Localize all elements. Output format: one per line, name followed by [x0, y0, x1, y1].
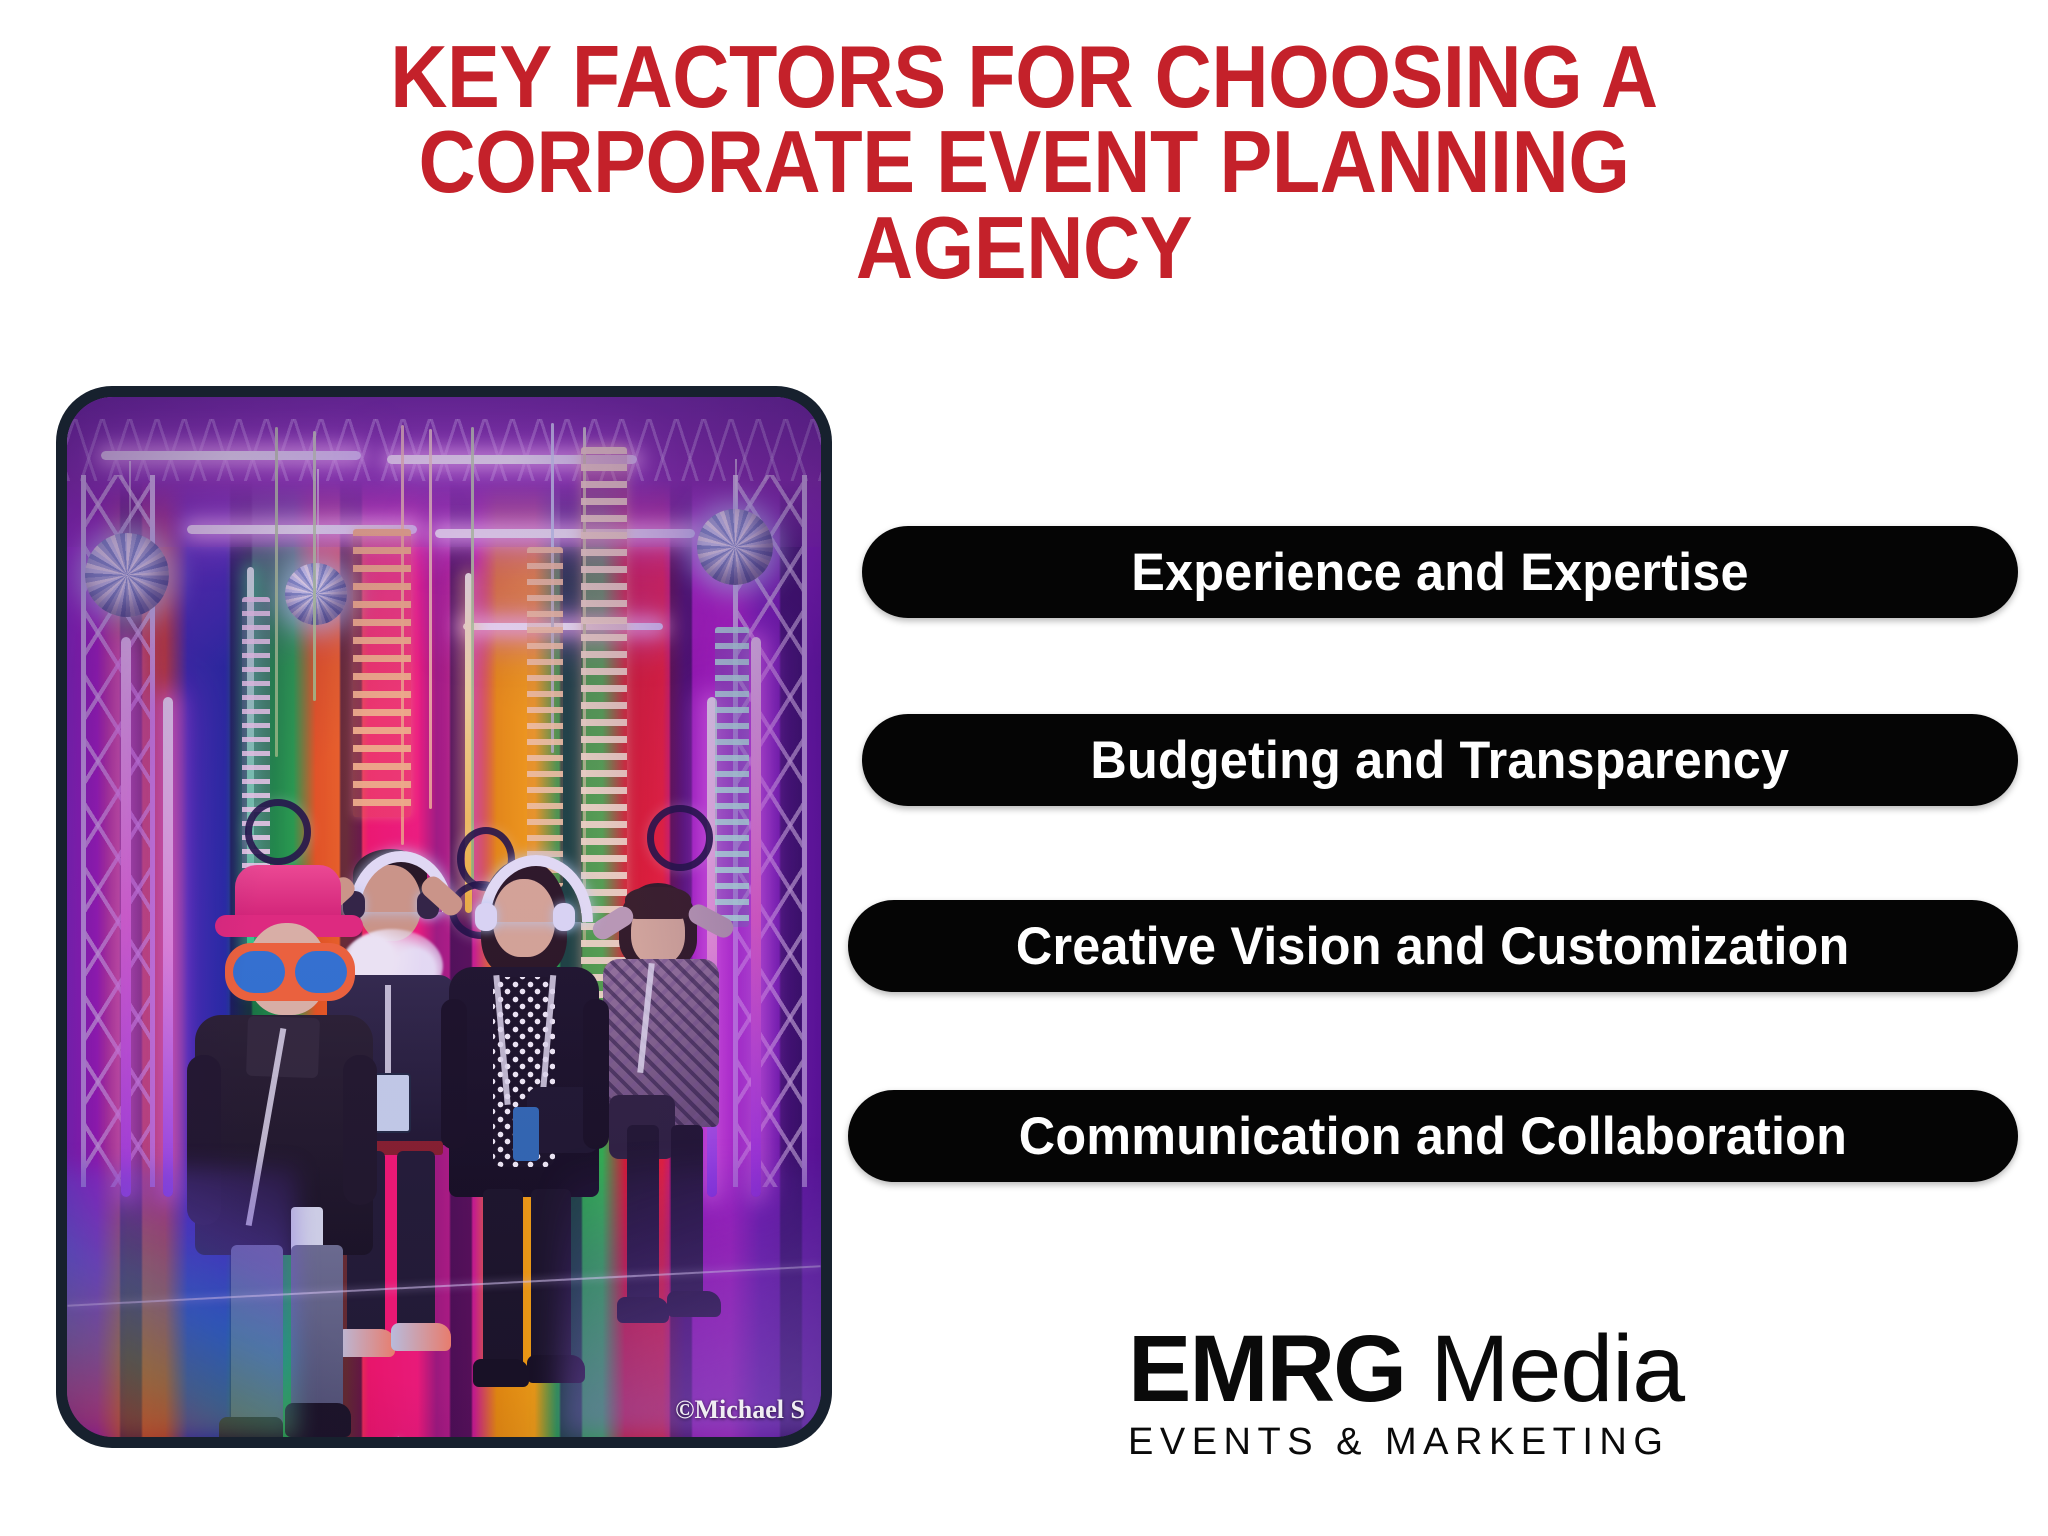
disco-ball-string [317, 469, 319, 565]
disco-ball-icon [285, 563, 347, 625]
factor-pill-label: Experience and Expertise [1131, 542, 1748, 603]
headphone-ring-icon [647, 805, 713, 871]
factor-pill-budgeting-and-transparency[interactable]: Budgeting and Transparency [862, 714, 2018, 806]
event-photo-card: ©Michael S [56, 386, 832, 1448]
headphone-cup-left [475, 903, 497, 931]
page-title-line-2: CORPORATE EVENT PLANNING [156, 119, 1891, 204]
disco-ball-string [129, 461, 131, 535]
leg-left [483, 1189, 523, 1369]
disco-ball-string [735, 459, 737, 515]
headphone-ring-icon [245, 799, 311, 865]
spiral-streamer-icon [527, 547, 563, 887]
leg-right [291, 1245, 343, 1415]
phone [513, 1107, 539, 1161]
page-title-line-1: KEY FACTORS FOR CHOOSING A [156, 34, 1891, 119]
factor-pill-experience-and-expertise[interactable]: Experience and Expertise [862, 526, 2018, 618]
bangs [625, 887, 691, 919]
logo-tagline: EVENTS & MARKETING [1128, 1421, 1688, 1464]
neon-tube-icon [101, 451, 361, 460]
hanging-ribbon [275, 427, 278, 757]
factor-pill-communication-and-collaboration[interactable]: Communication and Collaboration [848, 1090, 2018, 1182]
neon-tube-icon [751, 637, 761, 1197]
hanging-ribbon [471, 427, 474, 887]
neon-tube-icon [463, 623, 663, 630]
neon-tube-icon [121, 637, 131, 1197]
leg-right [397, 1151, 435, 1341]
page-title-line-3: AGENCY [156, 205, 1891, 290]
arm-right [343, 1055, 377, 1205]
logo-brand-bold: EMRG [1128, 1316, 1405, 1422]
hanging-ribbon [429, 429, 432, 809]
arm-left [441, 999, 467, 1149]
logo-brand-light: Media [1405, 1316, 1684, 1422]
photo-watermark: ©Michael S [675, 1395, 805, 1425]
factor-pill-creative-vision-and-customization[interactable]: Creative Vision and Customization [848, 900, 2018, 992]
page-title: KEY FACTORS FOR CHOOSING A CORPORATE EVE… [60, 34, 1988, 290]
logo-brand: EMRG Media [1128, 1322, 1688, 1417]
ceiling-truss [67, 419, 821, 481]
hanging-ribbon [313, 431, 316, 701]
arm-right [583, 999, 609, 1149]
headphone-cup-right [553, 903, 575, 931]
neon-tube-icon [435, 529, 695, 538]
neon-tube-icon [163, 697, 173, 1197]
emrg-media-logo: EMRG Media EVENTS & MARKETING [1128, 1322, 1688, 1464]
sunglass-lens-right [295, 951, 347, 993]
sunglass-lens-left [233, 951, 285, 993]
factor-pill-label: Communication and Collaboration [1019, 1106, 1847, 1167]
event-photo: ©Michael S [67, 397, 821, 1437]
shoe-left [473, 1359, 529, 1387]
disco-ball-icon [697, 509, 773, 585]
spiral-streamer-icon [353, 529, 411, 817]
disco-ball-icon [85, 533, 169, 617]
factor-pill-label: Budgeting and Transparency [1091, 730, 1790, 791]
factor-pill-label: Creative Vision and Customization [1016, 916, 1849, 977]
